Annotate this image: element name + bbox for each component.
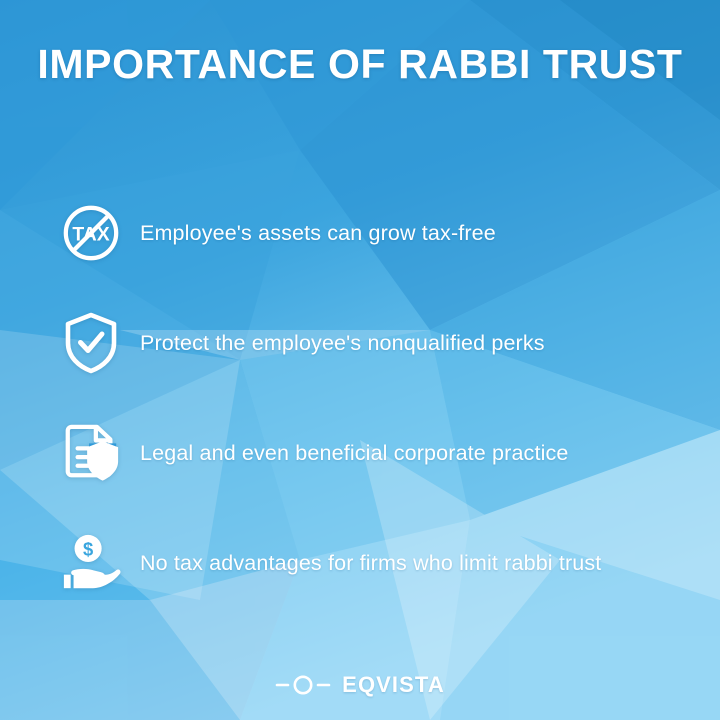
no-tax-icon: TAX bbox=[56, 200, 126, 266]
eqvista-circle-logo-icon bbox=[275, 674, 331, 696]
list-item: TAX Employee's assets can grow tax-free bbox=[0, 178, 720, 288]
list-item-label: Protect the employee's nonqualified perk… bbox=[140, 331, 545, 356]
footer-branding: EQVISTA bbox=[0, 672, 720, 698]
list-item: $ No tax advantages for firms who limit … bbox=[0, 508, 720, 618]
list-item-label: Legal and even beneficial corporate prac… bbox=[140, 441, 569, 466]
svg-text:$: $ bbox=[83, 538, 93, 559]
page-title: IMPORTANCE OF RABBI TRUST bbox=[0, 42, 720, 87]
hand-dollar-icon: $ bbox=[56, 530, 126, 596]
list-item-label: No tax advantages for firms who limit ra… bbox=[140, 551, 601, 576]
shield-check-icon bbox=[56, 310, 126, 376]
list-item: Protect the employee's nonqualified perk… bbox=[0, 288, 720, 398]
brand-name: EQVISTA bbox=[342, 672, 445, 698]
document-shield-icon bbox=[56, 420, 126, 486]
list-item: Legal and even beneficial corporate prac… bbox=[0, 398, 720, 508]
list-item-label: Employee's assets can grow tax-free bbox=[140, 221, 496, 246]
benefit-list: TAX Employee's assets can grow tax-free … bbox=[0, 178, 720, 618]
infographic-poster: IMPORTANCE OF RABBI TRUST TAX Employee's… bbox=[0, 0, 720, 720]
